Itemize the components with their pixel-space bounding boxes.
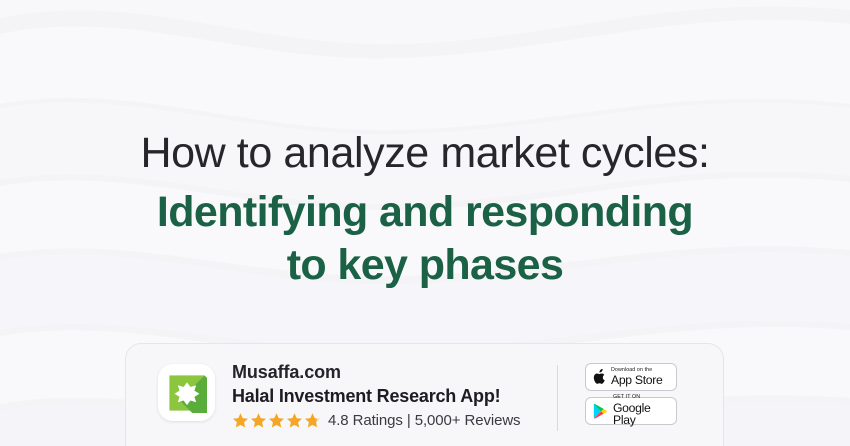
- headline-line-2a: Identifying and responding: [60, 186, 790, 240]
- google-play-badge[interactable]: GET IT ON Google Play: [585, 397, 677, 425]
- google-play-badge-big: Google Play: [613, 402, 676, 426]
- apple-logo-icon: [593, 369, 606, 385]
- app-store-badge-text: Download on the App Store: [611, 368, 663, 387]
- app-promo-card[interactable]: Musaffa.com Halal Investment Research Ap…: [125, 343, 724, 446]
- star-icon: [286, 412, 303, 429]
- google-play-icon: [593, 403, 608, 419]
- star-icon: [250, 412, 267, 429]
- store-badges-group: Download on the App Store GET IT ON Goog…: [558, 363, 723, 425]
- headline-line-2: Identifying and responding to key phases: [60, 186, 790, 294]
- google-play-badge-text: GET IT ON Google Play: [613, 395, 676, 426]
- headline-line-1: How to analyze market cycles:: [60, 128, 790, 179]
- rating-text: 4.8 Ratings | 5,000+ Reviews: [328, 412, 520, 429]
- rating-row: 4.8 Ratings | 5,000+ Reviews: [232, 412, 520, 429]
- app-tagline: Halal Investment Research App!: [232, 385, 520, 409]
- app-store-badge[interactable]: Download on the App Store: [585, 363, 677, 391]
- star-rating: [232, 412, 321, 429]
- musaffa-rosette-logo-icon: [167, 373, 207, 413]
- star-icon: [268, 412, 285, 429]
- google-play-badge-small: GET IT ON: [613, 395, 676, 400]
- headline-block: How to analyze market cycles: Identifyin…: [0, 128, 850, 293]
- app-brand-name: Musaffa.com: [232, 361, 520, 385]
- app-info-group: Musaffa.com Halal Investment Research Ap…: [126, 361, 557, 429]
- app-store-badge-big: App Store: [611, 374, 663, 386]
- app-icon-tile[interactable]: [158, 364, 215, 421]
- banner-canvas: How to analyze market cycles: Identifyin…: [0, 0, 850, 446]
- app-text-group: Musaffa.com Halal Investment Research Ap…: [232, 361, 520, 429]
- headline-line-2b: to key phases: [60, 239, 790, 293]
- star-icon: [232, 412, 249, 429]
- star-icon-partial: [304, 412, 321, 429]
- app-store-badge-small: Download on the: [611, 368, 663, 373]
- rosette-center-highlight: [181, 387, 191, 397]
